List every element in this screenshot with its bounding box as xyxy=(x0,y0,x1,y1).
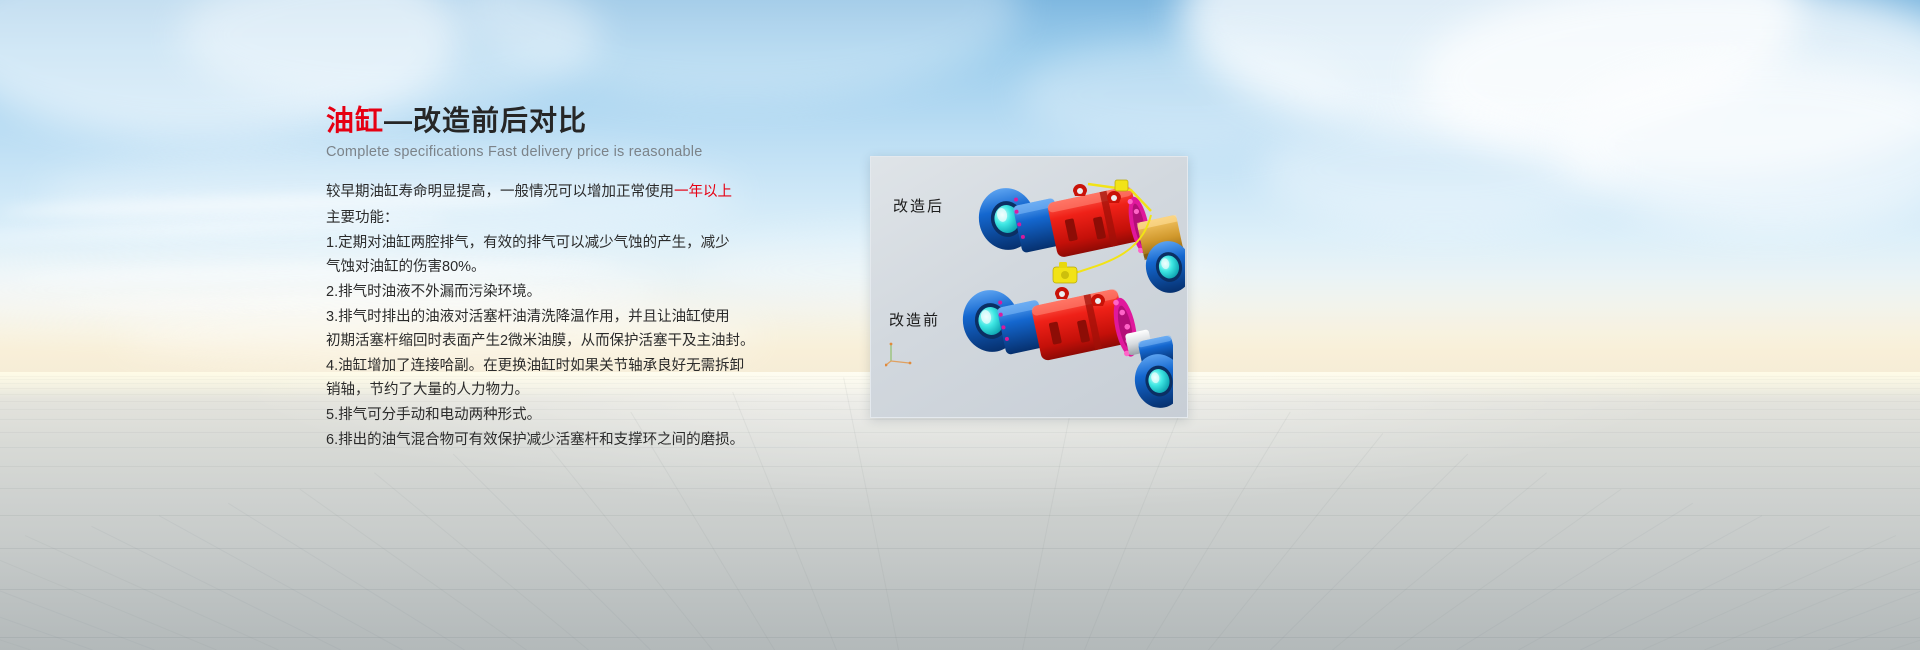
page-title-rest: —改造前后对比 xyxy=(384,105,587,136)
feature-line: 2.排气时油液不外漏而污染环境。 xyxy=(326,280,796,305)
feature-line-text: 1.定期对油缸两腔排气，有效的排气可以减少气蚀的产生，减少 xyxy=(326,235,730,251)
feature-line: 6.排出的油气混合物可有效保护减少活塞杆和支撑环之间的磨损。 xyxy=(326,428,796,453)
paving-line-horizontal xyxy=(0,548,1920,549)
feature-line-text: 2.排气时油液不外漏而污染环境。 xyxy=(326,284,541,300)
feature-line-text: 气蚀对油缸的伤害80%。 xyxy=(326,259,486,275)
paving-line-horizontal xyxy=(0,488,1920,489)
paving-line-horizontal xyxy=(0,419,1920,420)
feature-list: 较早期油缸寿命明显提高，一般情况可以增加正常使用一年以上主要功能：1.定期对油缸… xyxy=(326,180,796,453)
feature-line-text: 销轴，节约了大量的人力物力。 xyxy=(326,382,529,398)
feature-line-text: 6.排出的油气混合物可有效保护减少活塞杆和支撑环之间的磨损。 xyxy=(326,432,744,448)
feature-line: 气蚀对油缸的伤害80%。 xyxy=(326,255,796,280)
paving-line-horizontal xyxy=(0,589,1920,590)
cad-render-before xyxy=(943,277,1173,418)
feature-line: 较早期油缸寿命明显提高，一般情况可以增加正常使用一年以上 xyxy=(326,180,796,205)
page-title: 油缸—改造前后对比 xyxy=(326,104,796,138)
feature-line: 主要功能： xyxy=(326,206,796,231)
product-comparison-panel[interactable]: 改造后 改造前 xyxy=(870,156,1188,418)
feature-line-accent: 一年以上 xyxy=(674,184,732,200)
paving-line-horizontal xyxy=(0,466,1920,467)
feature-line: 4.油缸增加了连接哈副。在更换油缸时如果关节轴承良好无需拆卸 xyxy=(326,354,796,379)
coordinate-axis-icon xyxy=(885,339,915,367)
feature-line: 销轴，节约了大量的人力物力。 xyxy=(326,378,796,403)
paving-line-horizontal xyxy=(0,432,1920,433)
cloud-shape xyxy=(1020,40,1350,150)
feature-line: 初期活塞杆缩回时表面产生2微米油膜，从而保护活塞干及主油封。 xyxy=(326,329,796,354)
feature-line: 3.排气时排出的油液对活塞杆油清洗降温作用，并且让油缸使用 xyxy=(326,305,796,330)
feature-line: 1.定期对油缸两腔排气，有效的排气可以减少气蚀的产生，减少 xyxy=(326,231,796,256)
feature-line: 5.排气可分手动和电动两种形式。 xyxy=(326,403,796,428)
paving-line-horizontal xyxy=(0,515,1920,516)
feature-line-text: 较早期油缸寿命明显提高，一般情况可以增加正常使用 xyxy=(326,184,674,200)
feature-line-text: 5.排气可分手动和电动两种形式。 xyxy=(326,407,541,423)
hero-banner: 油缸—改造前后对比 Complete specifications Fast d… xyxy=(0,0,1920,650)
label-after-modification: 改造后 xyxy=(893,195,944,216)
paving-line-horizontal xyxy=(0,447,1920,448)
feature-line-text: 4.油缸增加了连接哈副。在更换油缸时如果关节轴承良好无需拆卸 xyxy=(326,358,744,374)
page-title-accent: 油缸 xyxy=(326,105,384,136)
feature-line-text: 主要功能： xyxy=(326,210,399,226)
hero-copy: 油缸—改造前后对比 Complete specifications Fast d… xyxy=(326,104,796,452)
label-before-modification: 改造前 xyxy=(889,309,940,330)
feature-line-text: 3.排气时排出的油液对活塞杆油清洗降温作用，并且让油缸使用 xyxy=(326,309,730,325)
page-subtitle: Complete specifications Fast delivery pr… xyxy=(326,144,796,160)
paving-line-horizontal xyxy=(0,637,1920,638)
feature-line-text: 初期活塞杆缩回时表面产生2微米油膜，从而保护活塞干及主油封。 xyxy=(326,333,755,349)
